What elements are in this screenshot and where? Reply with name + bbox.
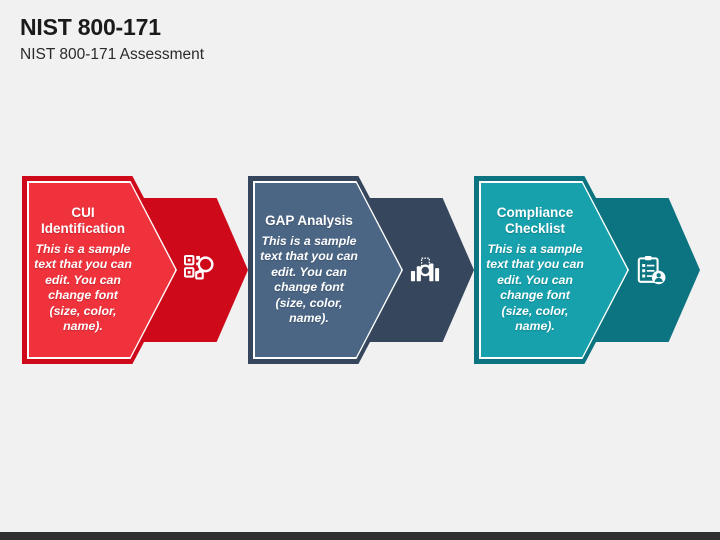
- chevron-process-diagram: CUI Identification This is a sample text…: [0, 176, 720, 366]
- stage-text-cui-identification: CUI Identification This is a sample text…: [22, 176, 140, 364]
- stage-body: This is a sample text that you can edit.…: [484, 242, 586, 335]
- slide-header: NIST 800-171 NIST 800-171 Assessment: [20, 14, 700, 65]
- stage-text-gap-analysis: GAP Analysis This is a sample text that …: [248, 176, 366, 364]
- qr-scan-icon: [182, 253, 216, 287]
- bar-chart-search-icon: [408, 253, 442, 287]
- stage-body: This is a sample text that you can edit.…: [258, 234, 360, 327]
- clipboard-user-icon: [634, 253, 668, 287]
- stage-heading: GAP Analysis: [265, 213, 353, 229]
- process-stage-compliance-checklist[interactable]: Compliance Checklist This is a sample te…: [474, 176, 720, 364]
- page-subtitle: NIST 800-171 Assessment: [20, 46, 700, 65]
- stage-text-compliance-checklist: Compliance Checklist This is a sample te…: [474, 176, 592, 364]
- stage-body: This is a sample text that you can edit.…: [32, 242, 134, 335]
- page-title: NIST 800-171: [20, 14, 700, 40]
- stage-heading: Compliance Checklist: [484, 205, 586, 237]
- stage-heading: CUI Identification: [32, 205, 134, 237]
- bottom-bar: [0, 532, 720, 540]
